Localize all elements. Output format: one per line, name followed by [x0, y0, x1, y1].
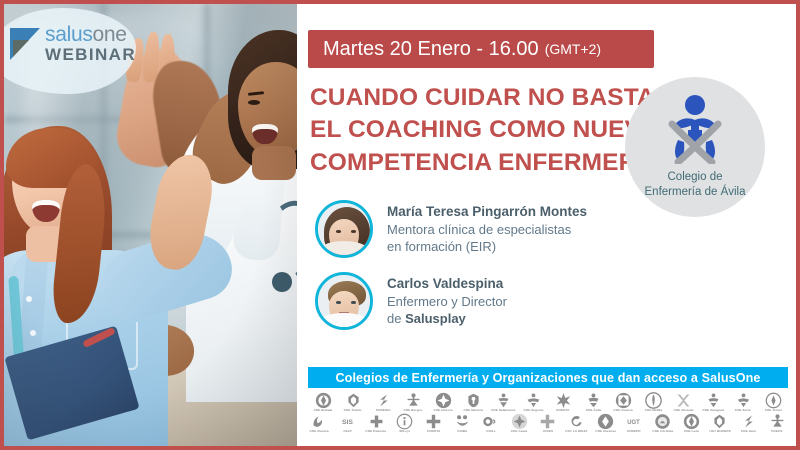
partner-logo-label: COE Soria	[735, 410, 751, 413]
partner-logo-item: UGT LA RIOJA	[563, 413, 591, 434]
partner-logo-item: UGTCODEPO	[620, 413, 648, 434]
partner-logo-item: ICOES	[534, 413, 562, 434]
partner-logo-item: COILL	[477, 413, 505, 434]
partner-logo-item: SISCELP	[334, 413, 362, 434]
partner-logo-item: CODEIGU	[369, 392, 398, 413]
partner-logo-item: CODOTA	[549, 392, 578, 413]
hero-photo: salusone WEBINAR	[4, 4, 297, 446]
college-name-line-2: Enfermería de Ávila	[645, 185, 746, 200]
partner-logo-item: COE Alicante	[669, 392, 698, 413]
partner-logo-label: COE Ávila	[585, 410, 600, 413]
partner-logo-icon	[482, 413, 499, 430]
salusone-webinar-logo: salusone WEBINAR	[10, 24, 136, 63]
speaker-item: María Teresa Pingarrón Montes Mentora cl…	[315, 200, 645, 258]
webinar-poster: salusone WEBINAR Martes 20 Enero - 16.00…	[0, 0, 800, 450]
partner-logo-item: UGT BURGOS	[706, 413, 734, 434]
partner-logo-icon	[683, 413, 700, 430]
partner-logo-icon: SIS	[339, 413, 356, 430]
partner-logo-item: COE Melilla	[639, 392, 668, 413]
nursing-figure-icon	[658, 94, 732, 169]
partner-logo-item: COE Ceuta	[506, 413, 534, 434]
partner-logo-icon	[525, 392, 542, 409]
partner-logo-item: COE Ávila	[579, 392, 608, 413]
speaker-role-line-2: de Salusplay	[387, 310, 507, 327]
partner-logo-item: COE Huesca	[429, 392, 458, 413]
partner-logo-item: COE Soria	[729, 392, 758, 413]
partner-logo-item: COE León	[677, 413, 705, 434]
organizations-banner: Colegios de Enfermería y Organizaciones …	[308, 367, 788, 388]
logo-one-text: one	[93, 23, 127, 46]
partner-logo-item: COE Cuenca	[609, 392, 638, 413]
partner-logo-label: COE Zamora	[309, 431, 328, 434]
partner-logo-icon	[405, 392, 422, 409]
partner-logo-label: COE Ourense	[595, 431, 616, 434]
college-badge: Colegio de Enfermería de Ávila	[625, 77, 765, 217]
timezone-text: (GMT+2)	[545, 41, 601, 57]
partner-logo-label: CODOTA	[556, 410, 569, 413]
logo-webinar-text: WEBINAR	[45, 46, 136, 63]
partner-logo-icon	[368, 413, 385, 430]
partner-logo-label: COE Palencia	[366, 431, 387, 434]
partner-logo-icon	[735, 392, 752, 409]
speaker-name: María Teresa Pingarrón Montes	[387, 203, 587, 221]
partner-logo-label: COE Burgos	[404, 410, 423, 413]
partner-logo-item: COECS	[763, 413, 791, 434]
partner-logo-label: UGT BURGOS	[709, 431, 730, 434]
partner-logo-icon	[539, 413, 556, 430]
partner-logo-label: COIBA	[457, 431, 467, 434]
speaker-photo-carlos	[318, 275, 370, 327]
speakers-list: María Teresa Pingarrón Montes Mentora cl…	[315, 200, 645, 344]
avatar	[315, 200, 373, 258]
partner-logo-label: COE León	[684, 431, 699, 434]
partner-logo-label: COE Teruel	[764, 410, 781, 413]
partner-logo-label: COE Alicante	[673, 410, 693, 413]
partner-logo-item: COE Teruel	[759, 392, 788, 413]
speaker-item: Carlos Valdespina Enfermero y Director d…	[315, 272, 645, 330]
partner-logo-icon	[511, 413, 528, 430]
partner-logo-icon	[568, 413, 585, 430]
partner-logo-row-1: COE BizkaiaCOE ToledoCODEIGUCOE BurgosCO…	[305, 392, 791, 413]
partner-logo-label: COE Segovia	[523, 410, 543, 413]
partner-logo-row-2: COE ZamoraSISCELPCOE PalenciaSIS-cylCODO…	[305, 413, 791, 434]
svg-text:SIS: SIS	[342, 419, 353, 426]
partner-logo-icon	[555, 392, 572, 409]
partner-logo-item: COE Navarra	[459, 392, 488, 413]
partner-logo-icon: UGT	[625, 413, 642, 430]
content-panel: Martes 20 Enero - 16.00 (GMT+2) CUANDO C…	[297, 4, 796, 446]
college-name-line-1: Colegio de	[645, 170, 746, 185]
partner-logo-item: COE Bizkaia	[309, 392, 338, 413]
salusone-mark-icon	[10, 28, 40, 60]
logo-salus-text: salus	[45, 23, 93, 46]
partner-logo-icon	[705, 392, 722, 409]
partner-logo-item: COE Córdoba	[649, 413, 677, 434]
speaker-role-prefix: de	[387, 311, 405, 326]
partner-logo-icon	[675, 392, 692, 409]
college-name: Colegio de Enfermería de Ávila	[645, 170, 746, 200]
partner-logo-label: COE Cuenca	[613, 410, 632, 413]
partner-logo-label: CELP	[343, 431, 351, 434]
partner-logo-icon	[645, 392, 662, 409]
partner-logo-item: COE Toledo	[339, 392, 368, 413]
partner-logo-icon	[740, 413, 757, 430]
partner-logo-label: COE Huesca	[434, 410, 453, 413]
partner-logo-label: COE Ceuta	[511, 431, 528, 434]
partner-logo-icon	[495, 392, 512, 409]
partner-logo-icon	[597, 413, 614, 430]
partner-logo-label: ICOES	[543, 431, 553, 434]
partner-logo-label: COE Zaragoza	[702, 410, 724, 413]
partner-logo-icon	[765, 392, 782, 409]
speaker-company: Salusplay	[405, 311, 466, 326]
partner-logo-icon	[345, 392, 362, 409]
partner-logo-label: COE Navarra	[463, 410, 483, 413]
partner-logo-label: CODEIGU	[376, 410, 391, 413]
partner-logo-icon	[454, 413, 471, 430]
speaker-info: María Teresa Pingarrón Montes Mentora cl…	[387, 203, 587, 256]
date-time-text: Martes 20 Enero - 16.00	[323, 38, 539, 61]
partner-logo-item: SIS-cyl	[391, 413, 419, 434]
partner-logo-label: COILL	[486, 431, 495, 434]
avatar	[315, 272, 373, 330]
partner-logo-icon	[585, 392, 602, 409]
partner-logo-item: COIBA	[448, 413, 476, 434]
partner-logo-icon	[310, 413, 327, 430]
speaker-role-line-2: en formación (EIR)	[387, 238, 587, 255]
partner-logo-icon	[315, 392, 332, 409]
partner-logo-icon	[615, 392, 632, 409]
partner-logo-item: COE Ourense	[591, 413, 619, 434]
speaker-role-line-1: Enfermero y Director	[387, 293, 507, 310]
partner-logo-label: CODOTA	[427, 431, 440, 434]
partner-logo-icon	[425, 413, 442, 430]
partner-logo-item: CODOTA	[420, 413, 448, 434]
partner-logo-label: COE Jaén	[741, 431, 756, 434]
partner-logo-label: COE Melilla	[644, 410, 661, 413]
partner-logo-icon	[654, 413, 671, 430]
partner-logo-icon	[435, 392, 452, 409]
partner-logo-item: COE Salamanca	[489, 392, 518, 413]
partner-logo-icon	[396, 413, 413, 430]
partner-logo-label: COECS	[772, 431, 783, 434]
partner-logo-item: COE Zaragoza	[699, 392, 728, 413]
speaker-role-line-1: Mentora clínica de especialistas	[387, 221, 587, 238]
speaker-photo-maria-teresa	[318, 203, 370, 255]
partner-logo-label: COE Córdoba	[652, 431, 673, 434]
partner-logo-item: COE Jaén	[735, 413, 763, 434]
partner-logo-label: UGT LA RIOJA	[566, 431, 588, 434]
date-time-banner: Martes 20 Enero - 16.00 (GMT+2)	[308, 30, 654, 68]
partner-logo-item: COE Zamora	[305, 413, 333, 434]
partner-logo-label: COE Salamanca	[491, 410, 515, 413]
partner-logo-item: COE Palencia	[362, 413, 390, 434]
partner-logo-icon	[375, 392, 392, 409]
partner-logo-item: COE Burgos	[399, 392, 428, 413]
partner-logo-item: COE Segovia	[519, 392, 548, 413]
partner-logo-label: CODEPO	[627, 431, 641, 434]
logo-text: salusone WEBINAR	[45, 24, 136, 63]
partner-logo-icon	[769, 413, 786, 430]
partner-logo-label: COE Toledo	[344, 410, 362, 413]
partner-logo-label: SIS-cyl	[399, 431, 410, 434]
partner-logo-icon	[465, 392, 482, 409]
partner-logo-grid: COE BizkaiaCOE ToledoCODEIGUCOE BurgosCO…	[305, 392, 791, 434]
speaker-info: Carlos Valdespina Enfermero y Director d…	[387, 275, 507, 328]
svg-text:UGT: UGT	[628, 420, 641, 426]
partner-logo-icon	[711, 413, 728, 430]
partner-logo-label: COE Bizkaia	[314, 410, 333, 413]
speaker-name: Carlos Valdespina	[387, 275, 507, 293]
